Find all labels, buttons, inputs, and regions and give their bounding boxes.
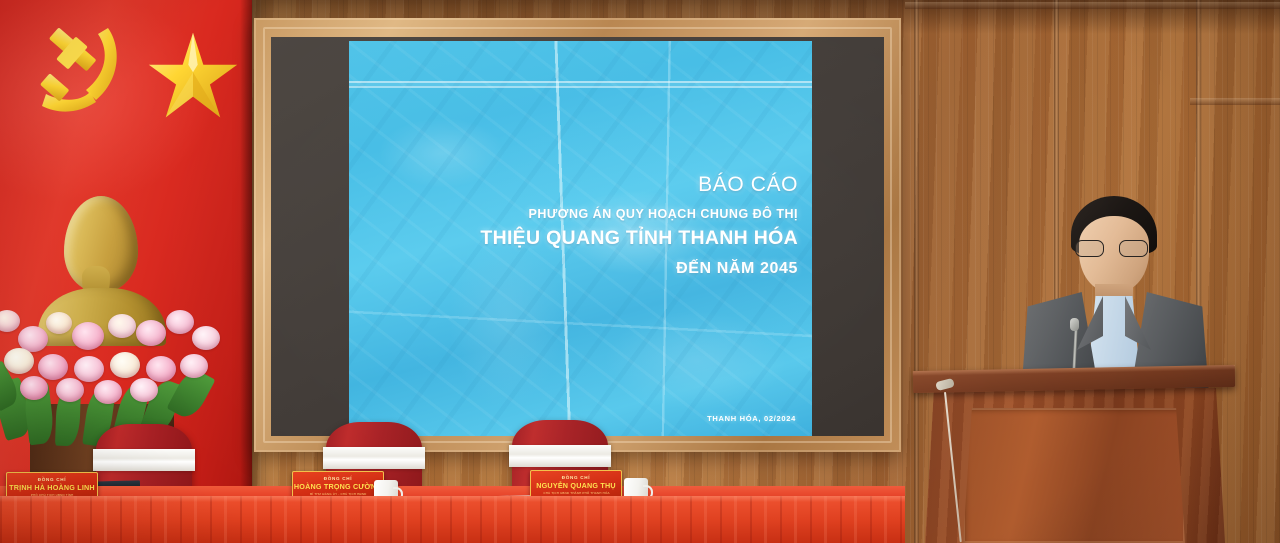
nameplate-name: NGUYỄN QUANG THỤ <box>536 481 615 490</box>
chair-sash <box>93 449 195 471</box>
eyeglasses-icon <box>1075 240 1155 257</box>
table-cloth <box>0 496 905 543</box>
gold-star-icon <box>146 30 240 122</box>
flower-arrangement <box>0 296 234 446</box>
wooden-podium <box>905 368 1280 543</box>
slide-line-4: ĐẾN NĂM 2045 <box>408 260 798 278</box>
projection-screen: BÁO CÁO PHƯƠNG ÁN QUY HOẠCH CHUNG ĐÔ THỊ… <box>271 37 884 436</box>
wall-trim-band <box>1190 98 1280 105</box>
nameplate-honorific: ĐỒNG CHÍ <box>562 475 591 480</box>
slide-line-1: BÁO CÁO <box>408 171 798 198</box>
microphone-icon <box>1070 318 1079 331</box>
chair-sash <box>323 447 425 469</box>
nameplate-role: CHỦ TỊCH UBND THÀNH PHỐ THANH HÓA <box>543 491 609 495</box>
hammer-and-sickle-icon <box>34 18 130 126</box>
conference-hall-photo: BÁO CÁO PHƯƠNG ÁN QUY HOẠCH CHUNG ĐÔ THỊ… <box>0 0 1280 543</box>
slide-line-2: PHƯƠNG ÁN QUY HOẠCH CHUNG ĐÔ THỊ <box>408 207 798 221</box>
map-road-line <box>349 81 812 90</box>
nameplate-honorific: ĐỒNG CHÍ <box>324 476 353 481</box>
projected-slide: BÁO CÁO PHƯƠNG ÁN QUY HOẠCH CHUNG ĐÔ THỊ… <box>349 41 812 436</box>
nameplate-honorific: ĐỒNG CHÍ <box>38 477 67 482</box>
wall-trim-band <box>905 2 1280 9</box>
slide-footer-location-date: THANH HÓA, 02/2024 <box>707 414 796 423</box>
nameplate-name: HOÀNG TRỌNG CƯỜNG <box>294 482 382 491</box>
slide-title-block: BÁO CÁO PHƯƠNG ÁN QUY HOẠCH CHUNG ĐÔ THỊ… <box>408 171 798 278</box>
slide-line-3: THIỆU QUANG TỈNH THANH HÓA <box>408 227 798 250</box>
projection-screen-frame: BÁO CÁO PHƯƠNG ÁN QUY HOẠCH CHUNG ĐÔ THỊ… <box>254 18 901 452</box>
nameplate-name: TRỊNH HÀ HOÀNG LINH <box>9 483 95 492</box>
podium-front-panel <box>963 408 1185 543</box>
chair-sash <box>509 445 611 467</box>
